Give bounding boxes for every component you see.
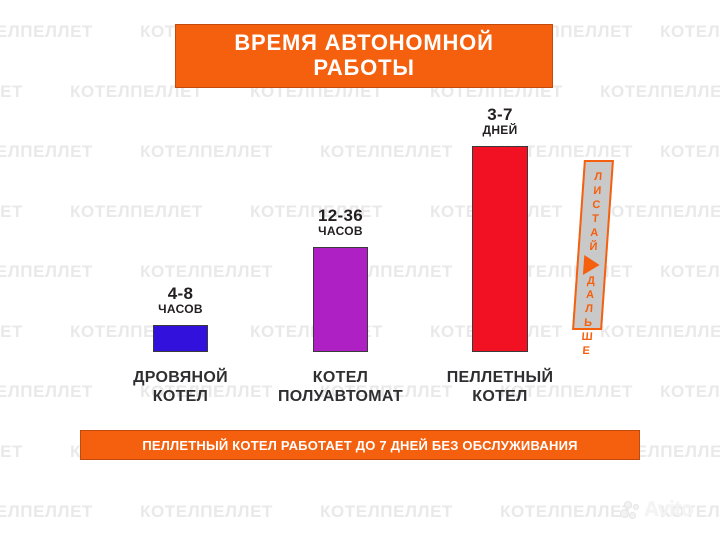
bar-category-line-1: КОТЕЛ [313, 369, 368, 386]
title-text: ВРЕМЯ АВТОНОМНОЙ РАБОТЫ [226, 31, 501, 80]
bar-category-label: ПЕЛЛЕТНЫЙКОТЕЛ [447, 368, 554, 406]
bar-rect [153, 325, 208, 352]
bar-rect [313, 247, 368, 352]
bar-category-line-1: ДРОВЯНОЙ [133, 369, 228, 386]
bottom-banner: ПЕЛЛЕТНЫЙ КОТЕЛ РАБОТАЕТ ДО 7 ДНЕЙ БЕЗ О… [80, 430, 640, 460]
bar-category-line-2: ПОЛУАВТОМАТ [278, 388, 403, 405]
avito-wordmark: Avito [644, 498, 693, 522]
bar-rect [472, 146, 528, 352]
bar-category-label: КОТЕЛПОЛУАВТОМАТ [278, 368, 403, 406]
bar-value-label: 12-36ЧАСОВ [318, 206, 363, 238]
bar-value-unit: ЧАСОВ [318, 225, 363, 238]
bar-category-label: ДРОВЯНОЙКОТЕЛ [133, 368, 228, 406]
bar-value-unit: ДНЕЙ [482, 124, 517, 137]
bar-category-line-2: КОТЕЛ [472, 388, 527, 405]
bar-value-number: 3-7 [482, 105, 517, 124]
bar-value-label: 4-8ЧАСОВ [158, 284, 203, 316]
bar-group: 12-36ЧАСОВКОТЕЛПОЛУАВТОМАТ [313, 247, 368, 352]
bar-value-label: 3-7ДНЕЙ [482, 105, 517, 137]
title-line-1: ВРЕМЯ АВТОНОМНОЙ [234, 30, 493, 55]
title-line-2: РАБОТЫ [313, 55, 414, 80]
title-banner: ВРЕМЯ АВТОНОМНОЙ РАБОТЫ [175, 24, 553, 88]
bar-group: 4-8ЧАСОВДРОВЯНОЙКОТЕЛ [153, 325, 208, 352]
bar-category-line-1: ПЕЛЛЕТНЫЙ [447, 369, 554, 386]
swipe-label-top: ЛИСТАЙ [587, 171, 604, 255]
bar-value-number: 4-8 [158, 284, 203, 303]
play-triangle-right-icon [583, 255, 600, 275]
infographic-canvas: КОТЕЛПЕЛЛЕТКОТЕЛПЕЛЛЕТКОТЕЛПЕЛЛЕТКОТЕЛПЕ… [0, 0, 720, 540]
avito-dots-icon [620, 500, 640, 520]
bar-value-number: 12-36 [318, 206, 363, 225]
bar-category-line-2: КОТЕЛ [153, 388, 208, 405]
bar-value-unit: ЧАСОВ [158, 303, 203, 316]
bottom-banner-text: ПЕЛЛЕТНЫЙ КОТЕЛ РАБОТАЕТ ДО 7 ДНЕЙ БЕЗ О… [142, 438, 577, 453]
avito-logo: Avito [620, 498, 693, 522]
bar-group: 3-7ДНЕЙПЕЛЛЕТНЫЙКОТЕЛ [472, 146, 528, 352]
